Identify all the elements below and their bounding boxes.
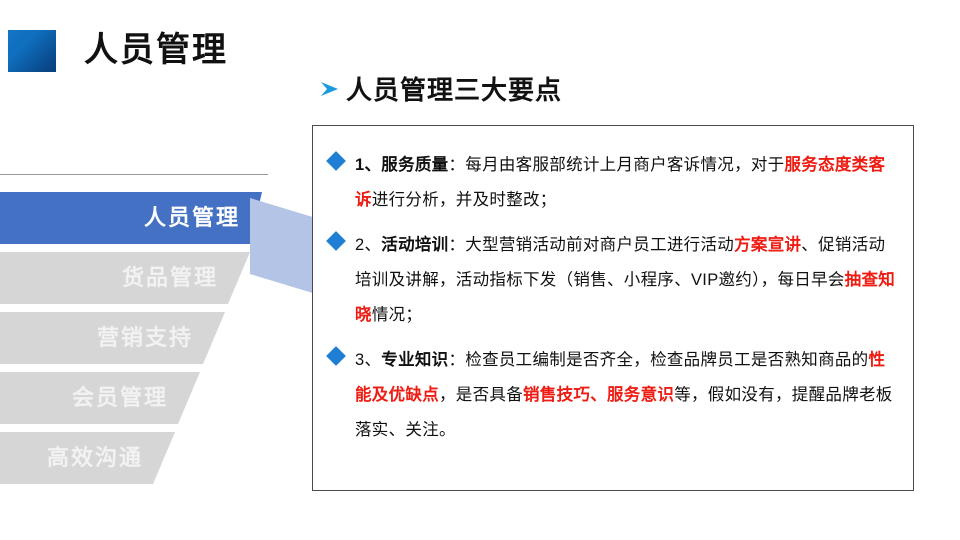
page-title: 人员管理 — [84, 26, 228, 74]
sidebar-item-3[interactable]: 营销支持 — [0, 312, 300, 364]
bullet-point-2: 2、活动培训：大型营销活动前对商户员工进行活动方案宣讲、促销活动培训及讲解，活动… — [323, 228, 897, 333]
content-heading-label: 人员管理三大要点 — [346, 70, 562, 107]
text-run: 活动培训 — [381, 236, 448, 254]
triangle-right-icon — [318, 78, 340, 100]
sidebar-item-label: 营销支持 — [97, 312, 193, 364]
text-run: 2、 — [355, 236, 381, 254]
text-run: 3、 — [355, 351, 381, 369]
content-box: 1、服务质量：每月由客服部统计上月商户客诉情况，对于服务态度类客诉进行分析，并及… — [312, 125, 914, 491]
sidebar-item-shape — [0, 432, 300, 484]
bullet-point-3: 3、专业知识：检查员工编制是否齐全，检查品牌员工是否熟知商品的性能及优缺点，是否… — [323, 343, 897, 448]
text-run: 服务质量 — [381, 156, 448, 174]
bullet-point-text: 3、专业知识：检查员工编制是否齐全，检查品牌员工是否熟知商品的性能及优缺点，是否… — [355, 343, 897, 448]
text-run: 销售技巧、服务意识 — [523, 386, 674, 404]
bullet-point-text: 1、服务质量：每月由客服部统计上月商户客诉情况，对于服务态度类客诉进行分析，并及… — [355, 148, 897, 218]
bullet-point-1: 1、服务质量：每月由客服部统计上月商户客诉情况，对于服务态度类客诉进行分析，并及… — [323, 148, 897, 218]
diamond-icon — [326, 346, 346, 366]
sidebar-item-label: 高效沟通 — [47, 432, 143, 484]
content-heading: 人员管理三大要点 — [318, 70, 562, 107]
text-run: 专业知识 — [381, 351, 448, 369]
selection-pointer-icon — [246, 190, 320, 294]
text-run: 方案宣讲 — [734, 236, 801, 254]
sidebar-item-label: 会员管理 — [72, 372, 168, 424]
text-run: ：每月由客服部统计上月商户客诉情况，对于 — [448, 156, 784, 174]
text-run: 1、 — [355, 156, 381, 174]
sidebar-divider — [0, 174, 268, 175]
bullet-point-text: 2、活动培训：大型营销活动前对商户员工进行活动方案宣讲、促销活动培训及讲解，活动… — [355, 228, 897, 333]
text-run: ：检查员工编制是否齐全，检查品牌员工是否熟知商品的 — [448, 351, 868, 369]
sidebar-item-5[interactable]: 高效沟通 — [0, 432, 300, 484]
diamond-icon — [326, 151, 346, 171]
logo-square-icon — [8, 30, 56, 72]
sidebar-item-label: 人员管理 — [144, 192, 240, 244]
diamond-icon — [326, 231, 346, 251]
sidebar-item-label: 货品管理 — [122, 252, 218, 304]
text-run: 进行分析，并及时整改； — [372, 191, 557, 209]
text-run: ：大型营销活动前对商户员工进行活动 — [448, 236, 734, 254]
text-run: 情况； — [372, 306, 422, 324]
text-run: ，是否具备 — [439, 386, 523, 404]
slide-canvas: 人员管理 人员管理货品管理营销支持会员管理高效沟通 人员管理三大要点 1、服务质… — [0, 0, 960, 540]
sidebar-item-4[interactable]: 会员管理 — [0, 372, 300, 424]
